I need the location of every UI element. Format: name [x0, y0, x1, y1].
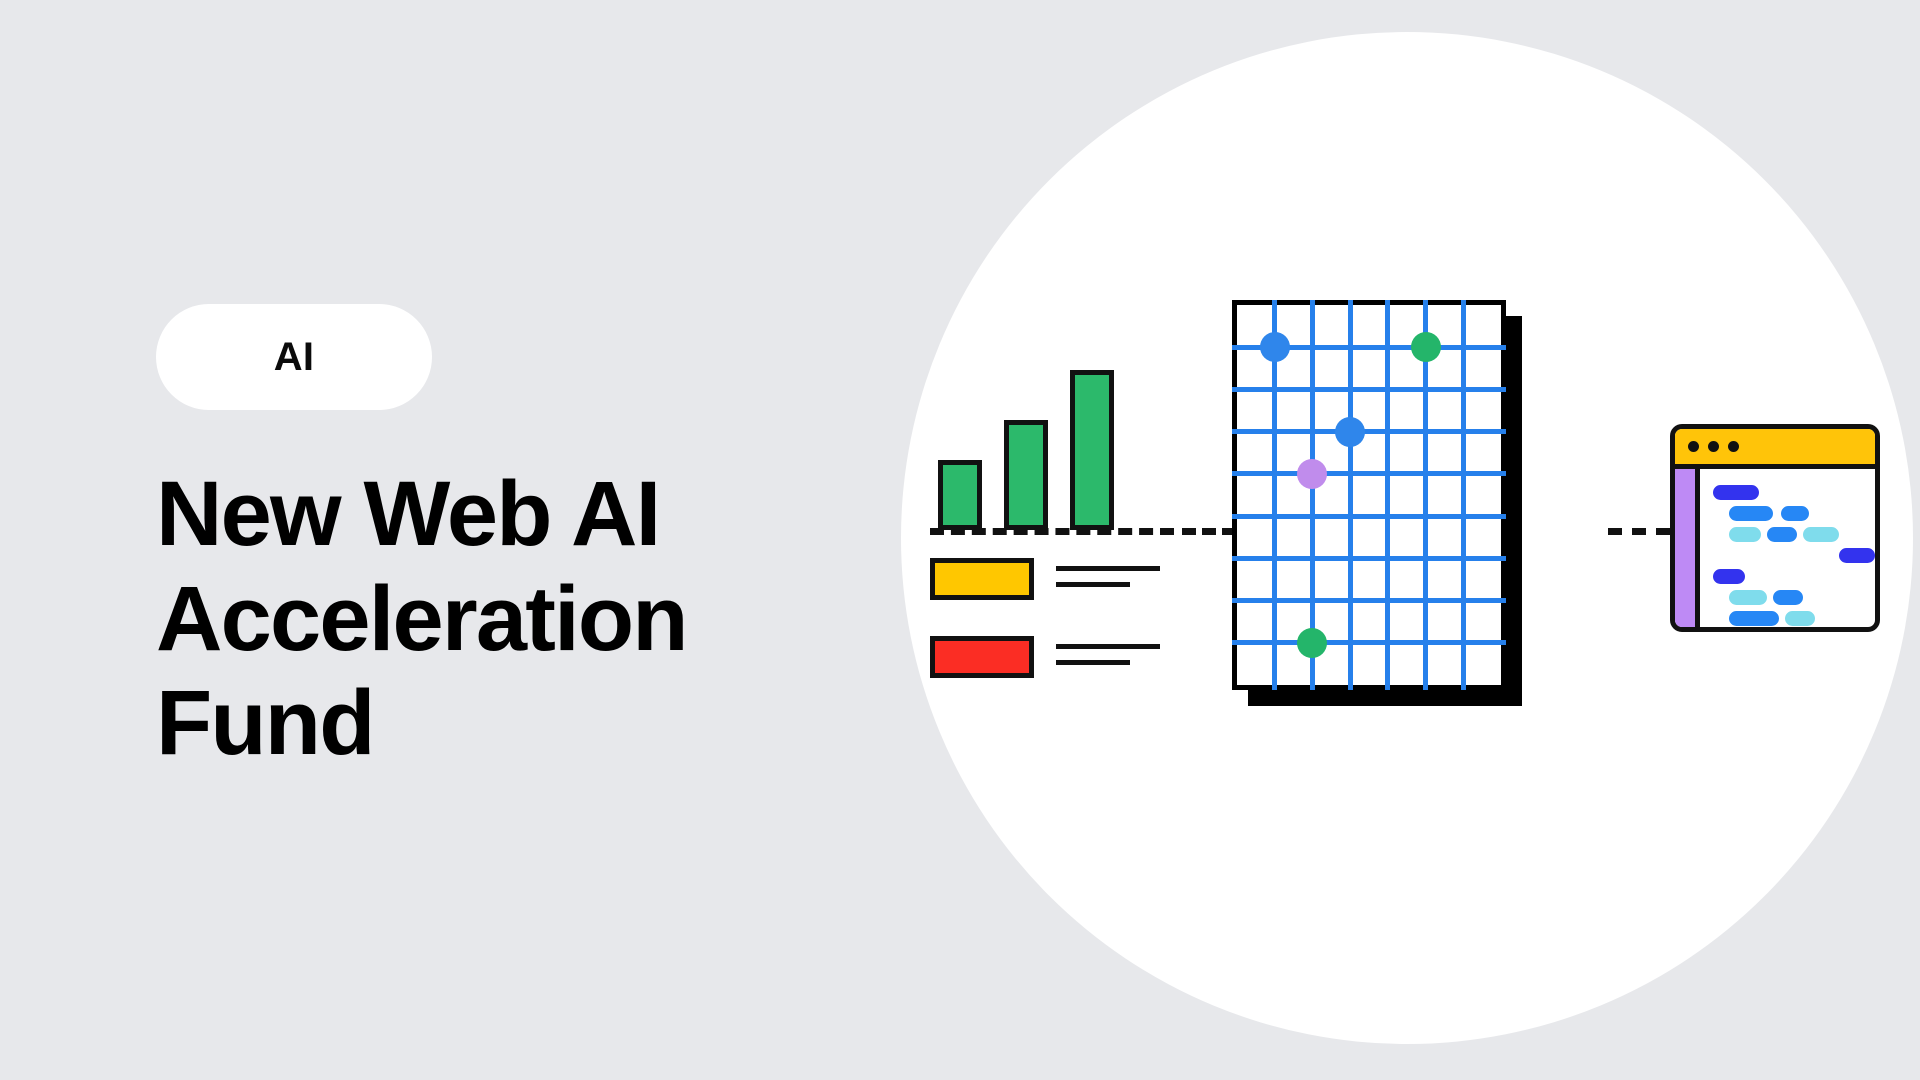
legend-text-line — [1056, 644, 1160, 649]
grid-dot-purple-1 — [1297, 459, 1327, 489]
code-editor-window[interactable] — [1670, 424, 1880, 632]
growth-bar-chart — [930, 340, 1190, 690]
window-close-icon[interactable] — [1688, 441, 1699, 452]
code-token — [1713, 569, 1745, 584]
grid-dot-green-1 — [1411, 332, 1441, 362]
grid-vertical-line — [1385, 300, 1390, 690]
grid-horizontal-line — [1232, 640, 1506, 645]
window-maximize-icon[interactable] — [1728, 441, 1739, 452]
illustration-panel — [880, 0, 1920, 1080]
window-minimize-icon[interactable] — [1708, 441, 1719, 452]
data-grid-surface — [1232, 300, 1506, 690]
code-token — [1767, 527, 1797, 542]
code-editor-body — [1705, 469, 1875, 627]
code-token — [1839, 548, 1875, 563]
grid-vertical-line — [1461, 300, 1466, 690]
grid-horizontal-line — [1232, 598, 1506, 603]
legend-swatch-red — [930, 636, 1034, 678]
grid-dot-blue-2 — [1335, 417, 1365, 447]
legend-swatch-yellow — [930, 558, 1034, 600]
code-token — [1729, 506, 1773, 521]
code-editor-frame — [1670, 424, 1880, 632]
chart-bar-3 — [1070, 370, 1114, 530]
connector-dashed-right — [1608, 528, 1670, 535]
code-editor-titlebar — [1675, 429, 1875, 469]
text-column: AI New Web AI Acceleration Fund — [156, 0, 836, 1080]
code-token — [1729, 527, 1761, 542]
code-token — [1713, 485, 1759, 500]
grid-horizontal-line — [1232, 514, 1506, 519]
grid-dot-blue-1 — [1260, 332, 1290, 362]
legend-row-red — [930, 636, 1190, 678]
hero-banner: AI New Web AI Acceleration Fund — [0, 0, 1920, 1080]
code-token — [1773, 590, 1803, 605]
chart-bar-2 — [1004, 420, 1048, 530]
connector-dashed-left — [1182, 528, 1236, 535]
code-token — [1785, 611, 1815, 626]
code-token — [1729, 590, 1767, 605]
legend-row-yellow — [930, 558, 1190, 600]
chart-baseline-dashed-line — [930, 528, 1174, 535]
category-pill-label: AI — [274, 337, 314, 377]
code-editor-sidebar — [1675, 469, 1700, 627]
page-title: New Web AI Acceleration Fund — [156, 462, 796, 777]
category-pill[interactable]: AI — [156, 304, 432, 410]
code-token — [1729, 611, 1779, 626]
grid-horizontal-line — [1232, 387, 1506, 392]
code-token — [1803, 527, 1839, 542]
code-token — [1781, 506, 1809, 521]
legend-text-line — [1056, 582, 1130, 587]
data-grid-lines — [1237, 305, 1501, 685]
legend-text-line — [1056, 566, 1160, 571]
grid-dot-green-2 — [1297, 628, 1327, 658]
ai-pipeline-illustration — [880, 0, 1920, 1080]
grid-horizontal-line — [1232, 471, 1506, 476]
grid-horizontal-line — [1232, 556, 1506, 561]
data-grid-sheet — [1232, 300, 1532, 720]
legend-text-line — [1056, 660, 1130, 665]
grid-vertical-line — [1348, 300, 1353, 690]
chart-bar-1 — [938, 460, 982, 530]
grid-horizontal-line — [1232, 429, 1506, 434]
